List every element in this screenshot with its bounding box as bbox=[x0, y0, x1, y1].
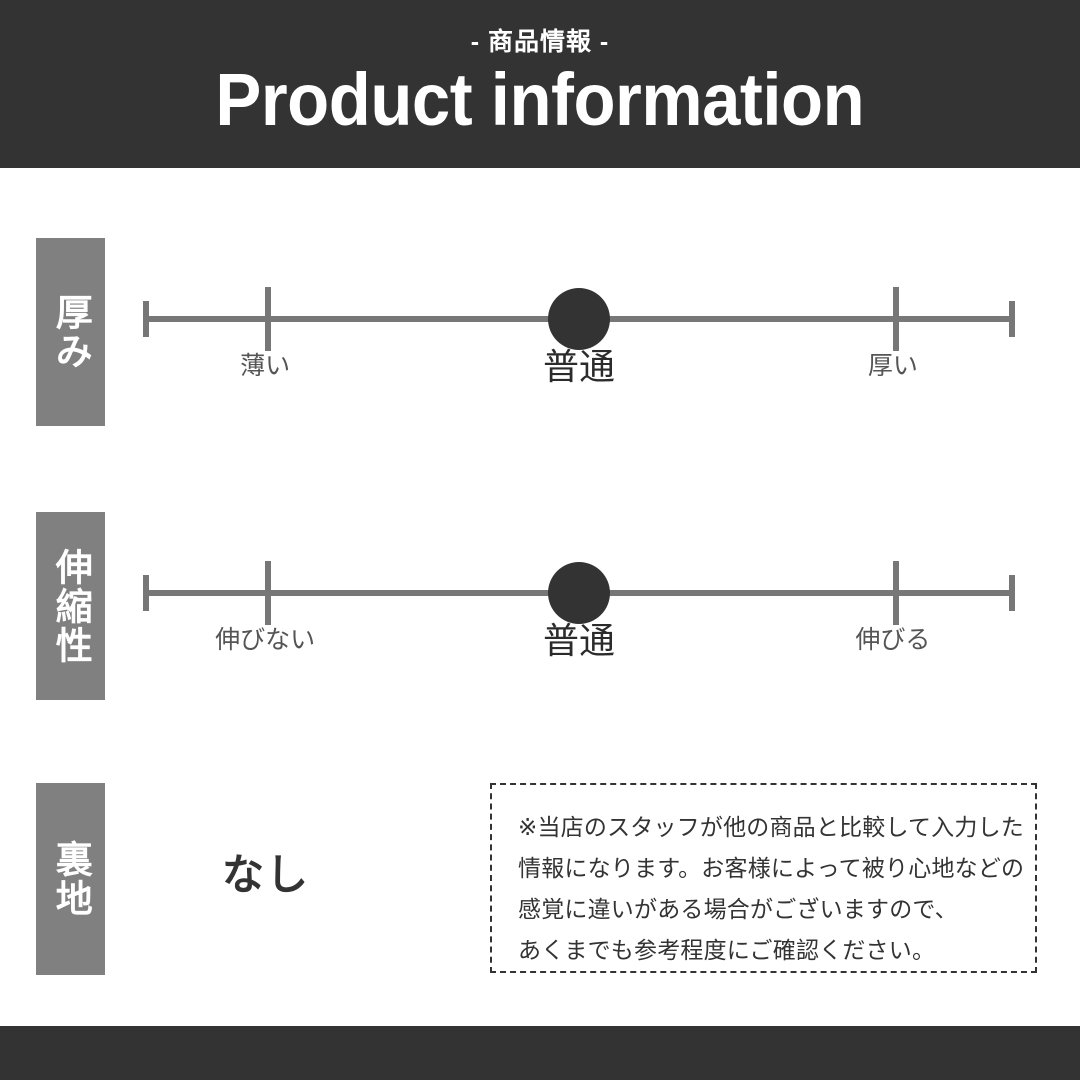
row-lining: 裏地 なし ※当店のスタッフが他の商品と比較して入力した 情報になります。お客様… bbox=[0, 783, 1080, 975]
scale-end-cap-left bbox=[143, 301, 149, 337]
note-line: 感覚に違いがある場合がございますので、 bbox=[518, 889, 1009, 930]
header-band: - 商品情報 - Product information bbox=[0, 0, 1080, 168]
scale-label-right: 伸びる bbox=[855, 620, 930, 656]
note-line: 情報になります。お客様によって被り心地などの bbox=[518, 848, 1009, 889]
product-information-infographic: - 商品情報 - Product information 厚み 薄い 普通 厚い… bbox=[0, 0, 1080, 1080]
page-title: Product information bbox=[216, 61, 865, 139]
scale-label-left: 伸びない bbox=[215, 620, 315, 656]
scale-label-center: 普通 bbox=[543, 338, 615, 390]
row-label-chip-lining: 裏地 bbox=[36, 783, 105, 975]
scale-label-right: 厚い bbox=[868, 346, 918, 382]
row-thickness: 厚み 薄い 普通 厚い bbox=[0, 238, 1080, 428]
scale-end-cap-left bbox=[143, 575, 149, 611]
note-line: ※当店のスタッフが他の商品と比較して入力した bbox=[518, 807, 1009, 848]
row-label-text: 伸縮性 bbox=[50, 548, 91, 665]
scale-end-cap-right bbox=[1009, 575, 1015, 611]
scale-end-cap-right bbox=[1009, 301, 1015, 337]
note-line: あくまでも参考程度にご確認ください。 bbox=[518, 930, 1009, 971]
scale-tick-left bbox=[265, 287, 271, 351]
row-label-chip-thickness: 厚み bbox=[36, 238, 105, 426]
lining-value: なし bbox=[222, 841, 310, 902]
row-label-chip-stretch: 伸縮性 bbox=[36, 512, 105, 700]
row-label-text: 裏地 bbox=[50, 840, 91, 918]
scale-tick-left bbox=[265, 561, 271, 625]
footer-band bbox=[0, 1026, 1080, 1080]
scale-label-center: 普通 bbox=[543, 612, 615, 664]
disclaimer-note-box: ※当店のスタッフが他の商品と比較して入力した 情報になります。お客様によって被り… bbox=[490, 783, 1037, 973]
header-subtitle: - 商品情報 - bbox=[471, 30, 610, 55]
scale-label-left: 薄い bbox=[240, 346, 290, 382]
scale-tick-right bbox=[893, 287, 899, 351]
row-label-text: 厚み bbox=[50, 293, 91, 371]
scale-tick-right bbox=[893, 561, 899, 625]
row-stretch: 伸縮性 伸びない 普通 伸びる bbox=[0, 512, 1080, 702]
